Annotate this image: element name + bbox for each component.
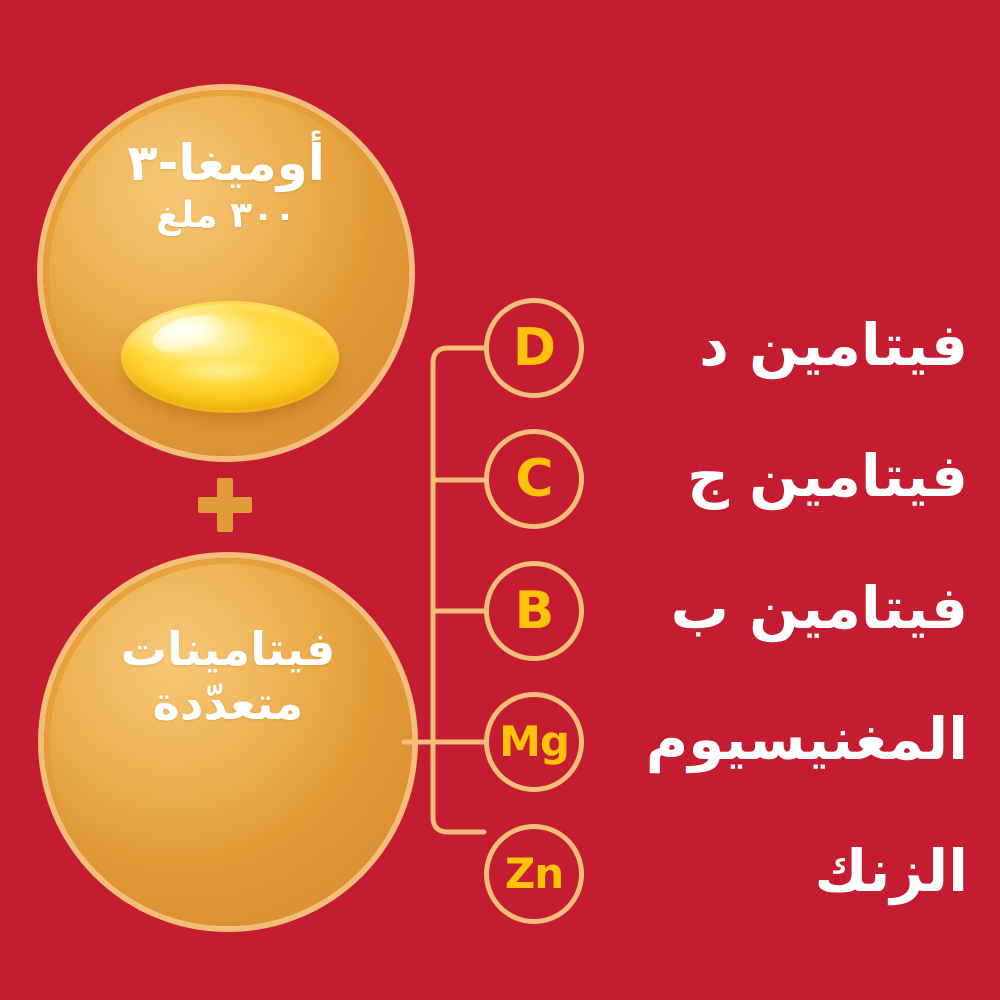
softgel-rim xyxy=(121,301,339,413)
infographic-canvas: أوميغا-٣ ٣٠٠ ملغ فيتامينات متعدّدة xyxy=(0,0,1000,1000)
omega-3-softgel-capsule-icon xyxy=(121,301,339,413)
plus-vertical-bar xyxy=(217,478,233,532)
nutrient-label-vitamin-c: فيتامين ج xyxy=(348,447,968,505)
nutrient-label-vitamin-d: فيتامين د xyxy=(348,316,968,374)
softgel-secondary-highlight xyxy=(173,359,269,384)
nutrient-label-vitamin-b: فيتامين ب xyxy=(348,579,968,637)
plus-icon xyxy=(198,478,252,532)
nutrient-label-zinc: الزنك xyxy=(348,842,968,900)
nutrient-label-magnesium: المغنيسيوم xyxy=(348,710,968,768)
omega-product-name: أوميغا-٣ xyxy=(43,138,409,189)
omega-product-dose: ٣٠٠ ملغ xyxy=(43,198,409,235)
